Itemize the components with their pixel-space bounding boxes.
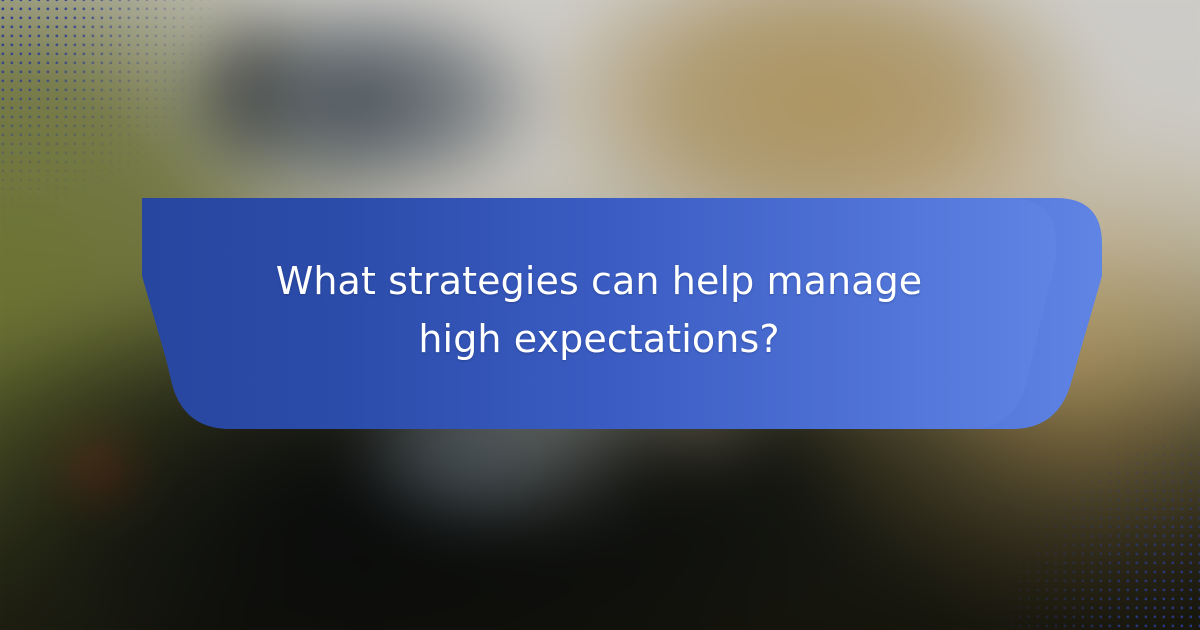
- question-banner: What strategies can help manage high exp…: [96, 198, 1102, 429]
- question-text-container: What strategies can help manage high exp…: [96, 198, 1102, 429]
- question-text: What strategies can help manage high exp…: [246, 253, 952, 369]
- share-card: What strategies can help manage high exp…: [0, 0, 1200, 630]
